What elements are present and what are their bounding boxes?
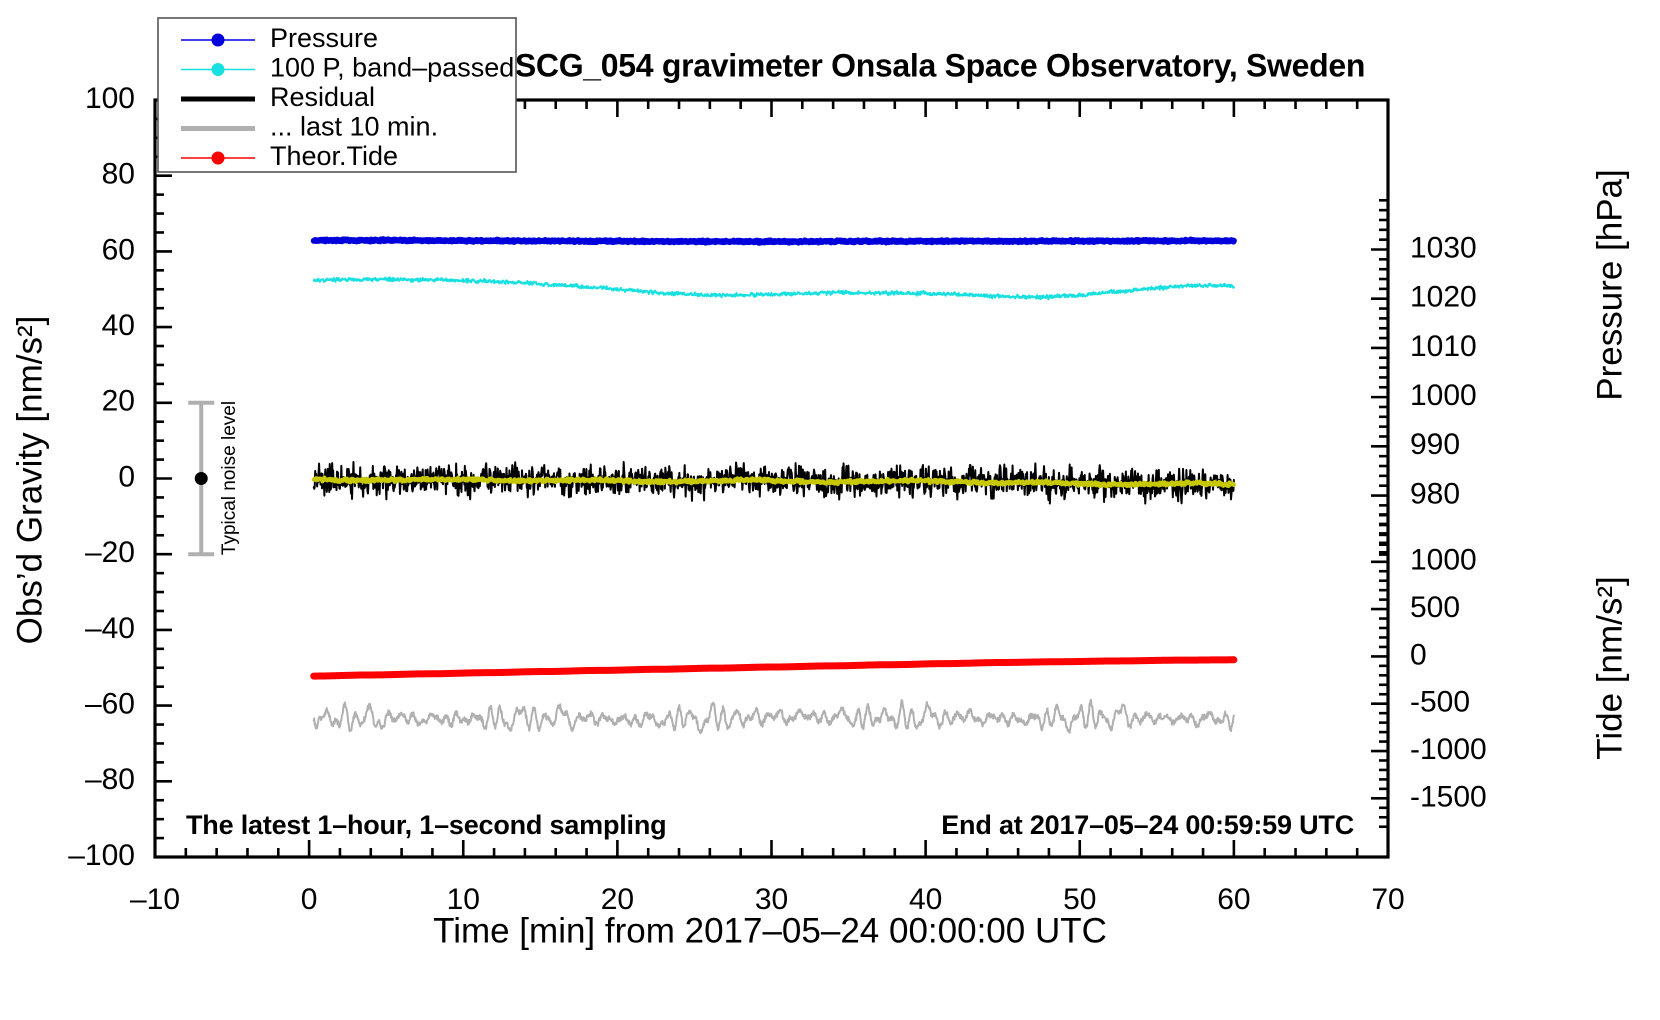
svg-text:0: 0 [118, 460, 135, 493]
svg-text:100: 100 [85, 82, 135, 115]
noise-level-label: Typical noise level [219, 401, 240, 555]
svg-text:–60: –60 [85, 688, 135, 721]
svg-text:1020: 1020 [1410, 281, 1477, 314]
page-title: SCG_054 gravimeter Onsala Space Observat… [515, 47, 1365, 83]
svg-text:1030: 1030 [1410, 231, 1477, 264]
svg-text:-1000: -1000 [1410, 733, 1487, 766]
legend-swatch-marker [212, 34, 225, 47]
svg-text:–100: –100 [68, 839, 135, 872]
svg-text:–80: –80 [85, 763, 135, 796]
y-axis-pressure-label: Pressure [hPa] [1590, 169, 1629, 401]
plot-canvas: –10010203040506070100806040200–20–40–60–… [0, 0, 1660, 1020]
legend-item-label: ... last 10 min. [270, 112, 438, 142]
sampling-note: The latest 1–hour, 1–second sampling [186, 810, 666, 840]
y-axis-tide-label: Tide [nm/s²] [1590, 576, 1629, 759]
svg-text:1010: 1010 [1410, 330, 1477, 363]
svg-text:60: 60 [1217, 883, 1250, 916]
gravimeter-plot-page: –10010203040506070100806040200–20–40–60–… [0, 0, 1660, 1020]
svg-text:500: 500 [1410, 591, 1460, 624]
svg-text:1000: 1000 [1410, 544, 1477, 577]
svg-text:–10: –10 [130, 883, 180, 916]
legend-swatch-marker [212, 63, 225, 76]
legend-item-label: Theor.Tide [270, 141, 398, 171]
end-time-note: End at 2017–05–24 00:59:59 UTC [941, 810, 1354, 840]
svg-text:40: 40 [102, 309, 135, 342]
svg-text:-500: -500 [1410, 686, 1470, 719]
svg-text:0: 0 [301, 883, 318, 916]
svg-text:60: 60 [102, 233, 135, 266]
svg-text:20: 20 [102, 385, 135, 418]
svg-text:80: 80 [102, 158, 135, 191]
svg-text:990: 990 [1410, 428, 1460, 461]
svg-text:–20: –20 [85, 536, 135, 569]
svg-text:980: 980 [1410, 477, 1460, 510]
legend-swatch-marker [212, 152, 225, 165]
legend-item-label: 100 P, band–passed [270, 53, 514, 83]
y-axis-left-label: Obs’d Gravity [nm/s²] [10, 316, 49, 645]
svg-text:1000: 1000 [1410, 379, 1477, 412]
svg-text:-1500: -1500 [1410, 780, 1487, 813]
legend-item-label: Pressure [270, 23, 378, 53]
svg-text:0: 0 [1410, 638, 1427, 671]
legend-item-label: Residual [270, 82, 375, 112]
svg-text:–40: –40 [85, 612, 135, 645]
x-axis-label: Time [min] from 2017–05–24 00:00:00 UTC [433, 911, 1107, 950]
legend[interactable]: Pressure100 P, band–passedResidual... la… [158, 18, 516, 172]
svg-text:70: 70 [1371, 883, 1404, 916]
